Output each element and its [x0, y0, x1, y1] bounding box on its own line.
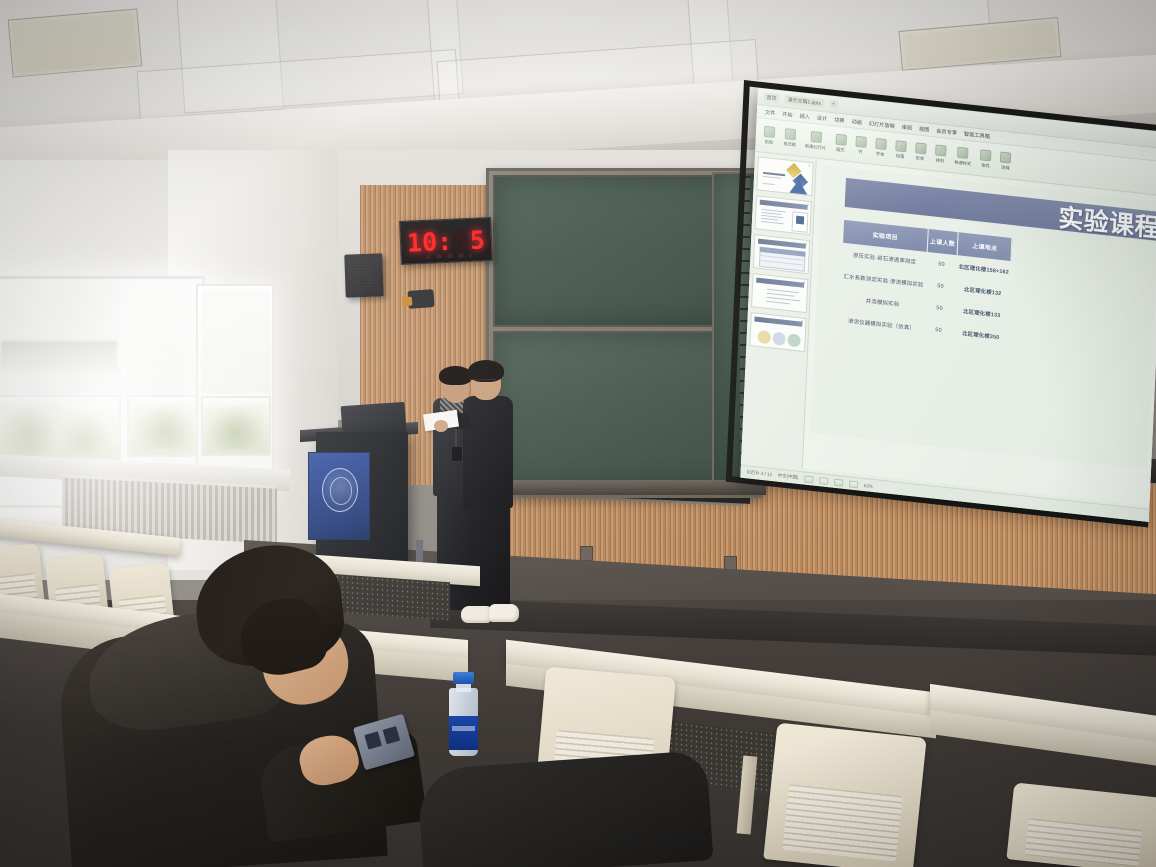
backpack[interactable] — [417, 750, 714, 867]
section-icon — [855, 136, 866, 148]
ribbon-section[interactable]: 节 — [855, 136, 867, 156]
cell-count: 50 — [924, 296, 955, 321]
ppt-tab-file[interactable]: 演示文稿1.pptx — [784, 94, 824, 107]
window-blind[interactable] — [0, 281, 121, 393]
presenter-front-shoe-left — [461, 606, 491, 623]
presenter-front-legs — [466, 500, 510, 610]
cell-count: 50 — [926, 252, 957, 277]
reading-view-icon[interactable] — [834, 478, 843, 486]
chair[interactable] — [763, 723, 926, 867]
slide-thumbnail[interactable]: 1 — [756, 156, 813, 196]
ribbon-find[interactable]: 查找 — [980, 149, 992, 169]
menu-toolbox[interactable]: 智能工具箱 — [964, 130, 990, 140]
align-icon — [895, 140, 906, 152]
select-icon — [1000, 152, 1011, 164]
window-pane — [201, 396, 271, 456]
presenter-front-shoe-right — [489, 604, 519, 622]
water-bottle-cap[interactable] — [453, 672, 474, 684]
zoom-level: 62% — [864, 483, 873, 489]
clock-minute-dim: 8 — [453, 228, 469, 254]
quickstyle-icon — [957, 147, 968, 159]
window-view-roof — [1, 341, 117, 371]
ribbon-quickstyle[interactable]: 快速样式 — [954, 147, 972, 168]
camera-icon — [407, 289, 434, 309]
font-icon — [875, 138, 886, 150]
menu-animation[interactable]: 动画 — [851, 118, 862, 126]
menu-file[interactable]: 文件 — [765, 108, 776, 116]
glasses-icon — [470, 379, 496, 384]
clock-indicator-dots — [426, 253, 472, 259]
window-blind[interactable] — [127, 285, 203, 393]
menu-design[interactable]: 设计 — [817, 114, 828, 122]
presenter-front-torso — [463, 396, 513, 508]
arrange-icon — [935, 144, 946, 156]
paste-icon — [764, 126, 775, 138]
ribbon-paragraph[interactable]: 段落 — [894, 140, 906, 160]
slide-thumbnail[interactable]: 4 — [751, 273, 808, 313]
ribbon-layout[interactable]: 版式 — [835, 134, 847, 154]
new-slide-icon — [810, 131, 821, 143]
chair[interactable] — [1006, 782, 1156, 867]
cell-count: 50 — [923, 318, 954, 343]
menu-view[interactable]: 视图 — [919, 125, 930, 133]
format-painter-icon — [784, 128, 795, 140]
window-pane — [0, 395, 121, 461]
ribbon-shapes[interactable]: 形状 — [914, 142, 926, 162]
menu-insert[interactable]: 插入 — [799, 112, 810, 120]
ppt-tab-home[interactable]: 首页 — [763, 92, 779, 103]
ceiling-light-panel — [8, 8, 143, 77]
slideshow-icon[interactable] — [849, 480, 858, 488]
wall-speaker — [344, 253, 383, 297]
water-bottle-label — [449, 716, 478, 750]
window-blind[interactable] — [201, 289, 271, 393]
current-slide: 实验课程 实验项目 上课人数 上课地点 — [810, 165, 1156, 469]
menu-transition[interactable]: 切换 — [834, 116, 845, 124]
wall-outlet — [580, 546, 593, 561]
menu-slideshow[interactable]: 幻灯片放映 — [869, 120, 895, 130]
projector-screen: 首页 演示文稿1.pptx + 文件 开始 插入 设计 切换 动画 幻灯片放映 … — [740, 88, 1156, 522]
menu-member[interactable]: 会员专享 — [936, 127, 957, 136]
cell-location: 北区理化楼350 — [953, 321, 1008, 349]
presenter-front-hand — [434, 420, 448, 432]
slide-thumbnail[interactable]: 5 — [749, 312, 806, 352]
cell-count: 50 — [925, 274, 956, 299]
ribbon-format-painter[interactable]: 格式刷 — [783, 128, 796, 148]
ribbon-font[interactable]: 字体 — [875, 138, 887, 158]
col-student-count: 上课人数 — [927, 229, 958, 255]
projected-ppt-window: 首页 演示文稿1.pptx + 文件 开始 插入 设计 切换 动画 幻灯片放映 … — [740, 88, 1156, 522]
menu-review[interactable]: 审阅 — [902, 123, 913, 131]
experiment-course-table: 实验项目 上课人数 上课地点 渗压实验·岩石渗透率测定 50 北区理化楼158+… — [839, 220, 1013, 349]
clock-minute: 5 — [469, 227, 485, 253]
ppt-new-tab-button[interactable]: + — [829, 100, 838, 109]
slide-editing-area[interactable]: 实验课程 实验项目 上课人数 上课地点 — [803, 159, 1156, 506]
ppt-workspace: 1 2 — [741, 152, 1156, 506]
digital-clock: 10: 8 5 — [399, 217, 493, 265]
find-icon — [980, 149, 991, 161]
university-emblem-icon — [322, 468, 358, 512]
shapes-icon — [915, 142, 926, 154]
classroom-photo: 10: 8 5 首页 演示文稿1.pptx + 文件 开始 插入 设计 切换 动… — [0, 0, 1156, 867]
slide-thumbnail[interactable]: 3 — [753, 234, 810, 274]
clock-hour: 10: — [406, 228, 452, 255]
ribbon-new-slide[interactable]: 新建幻灯片 — [805, 130, 827, 151]
ribbon-select[interactable]: 选择 — [1000, 152, 1012, 172]
normal-view-icon[interactable] — [804, 475, 813, 483]
ribbon-arrange[interactable]: 排列 — [934, 144, 946, 164]
menu-home[interactable]: 开始 — [782, 110, 793, 118]
layout-icon — [835, 134, 846, 146]
slide-indicator: 幻灯片 3 / 12 — [746, 469, 772, 478]
ribbon-paste[interactable]: 粘贴 — [763, 126, 775, 146]
id-badge — [451, 446, 463, 462]
presenter-back-hair — [439, 366, 472, 385]
chalk-tray — [484, 480, 766, 495]
window-right — [196, 284, 274, 484]
slide-thumbnail[interactable]: 2 — [755, 195, 812, 235]
window-pane — [127, 395, 203, 457]
slide-title: 实验课程 — [1058, 198, 1156, 245]
language-indicator: 中文(中国) — [778, 473, 799, 481]
sorter-view-icon[interactable] — [819, 477, 828, 485]
